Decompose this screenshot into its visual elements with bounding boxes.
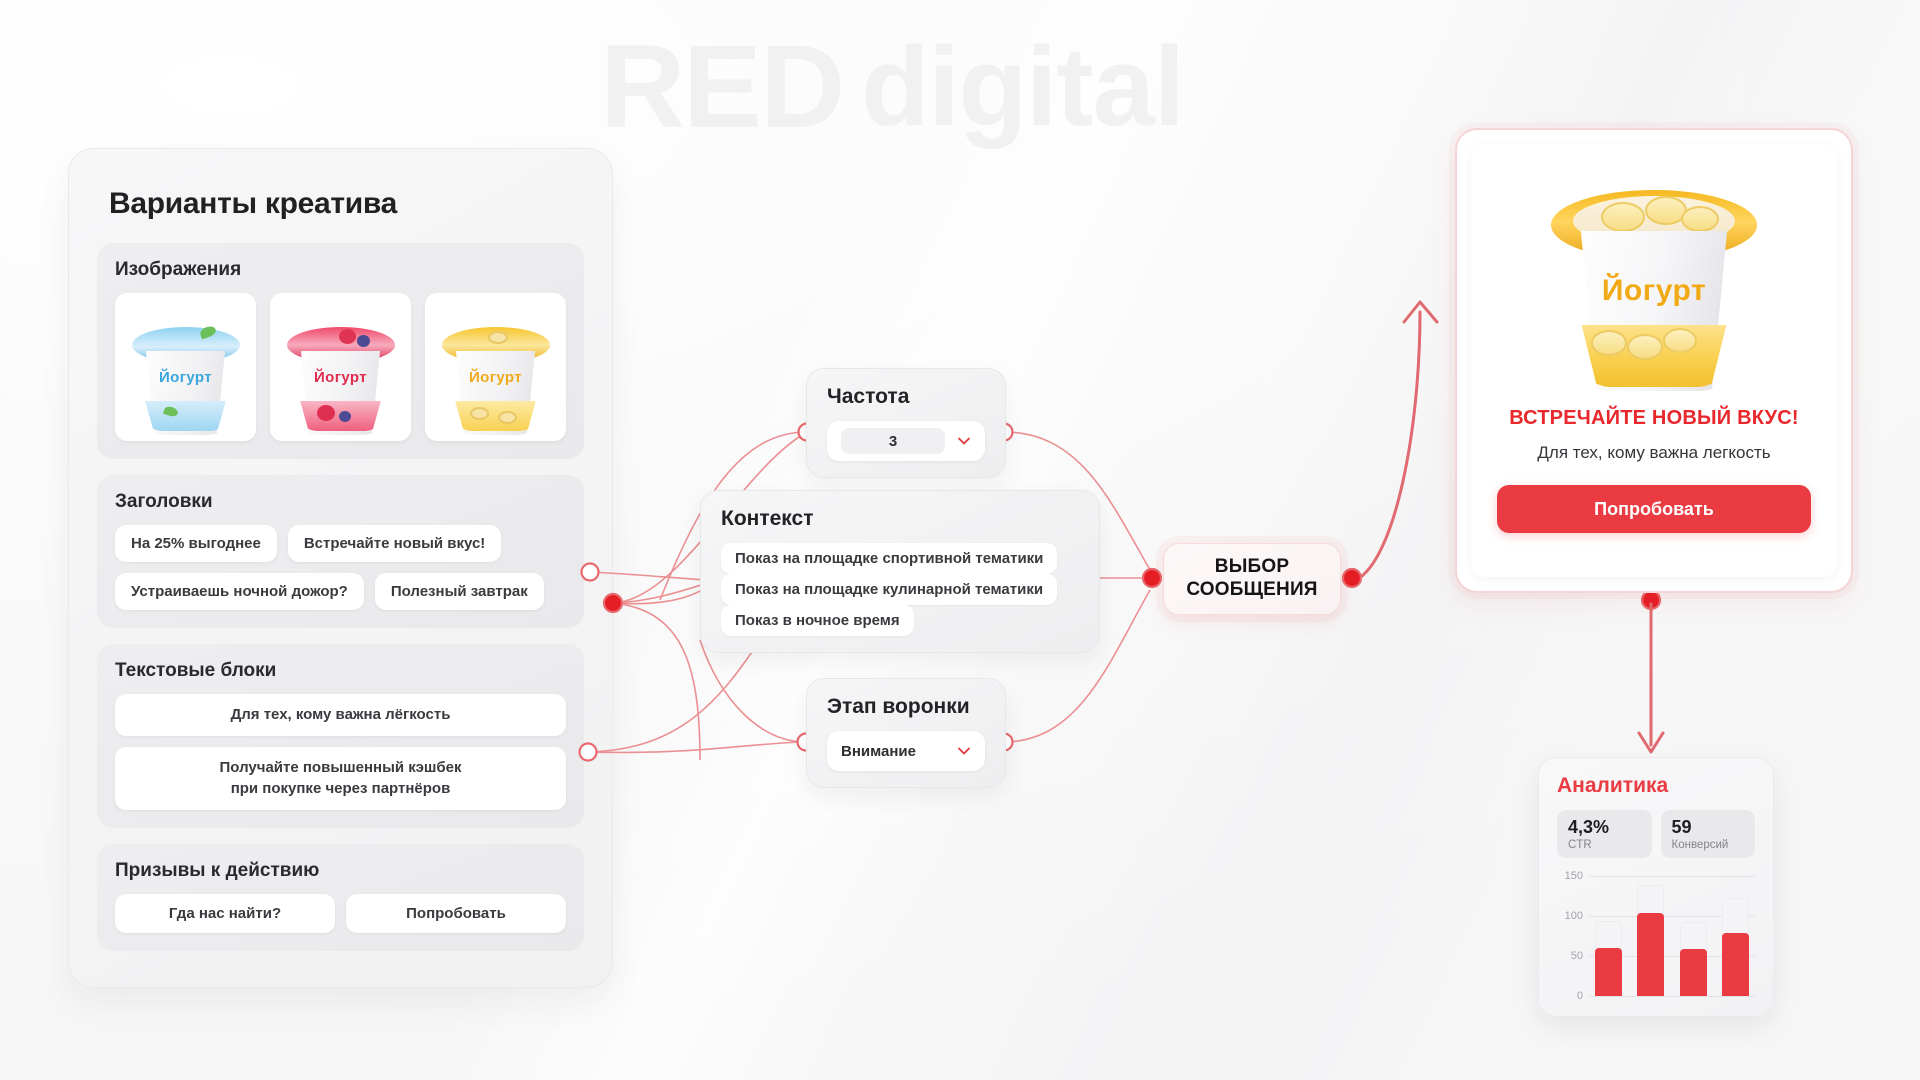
canvas: RED digital Варианты креатива Изображени… bbox=[0, 0, 1920, 1080]
port-decision-in bbox=[1143, 569, 1161, 587]
group-images: Изображения Йогурт bbox=[97, 243, 584, 459]
kpi-ctr-label: CTR bbox=[1568, 839, 1641, 851]
cup-label: Йогурт bbox=[436, 369, 556, 386]
yogurt-cup-icon: Йогурт bbox=[436, 311, 556, 435]
page-title: Варианты креатива bbox=[109, 187, 580, 221]
analytics-card: Аналитика 4,3% CTR 59 Конверсий 05010015… bbox=[1538, 757, 1774, 1017]
chart-y-tick: 100 bbox=[1565, 910, 1583, 922]
group-images-title: Изображения bbox=[115, 259, 566, 281]
preview-cta-button[interactable]: Попробовать bbox=[1497, 485, 1811, 533]
creative-variants-panel: Варианты креатива Изображения Йогурт bbox=[68, 148, 613, 988]
chart-bars bbox=[1595, 876, 1749, 996]
headline-chip[interactable]: Встречайте новый вкус! bbox=[288, 525, 501, 562]
yogurt-cup-icon: Йогурт bbox=[281, 311, 401, 435]
group-textblocks: Текстовые блоки Для тех, кому важна лёгк… bbox=[97, 644, 584, 828]
chevron-down-icon[interactable] bbox=[957, 434, 971, 448]
textblock-item[interactable]: Получайте повышенный кэшбек при покупке … bbox=[115, 747, 566, 810]
decision-line-1: ВЫБОР bbox=[1186, 556, 1317, 579]
chart-y-tick: 50 bbox=[1571, 950, 1583, 962]
port-preview-out bbox=[1642, 591, 1660, 609]
group-headlines-title: Заголовки bbox=[115, 491, 566, 513]
chart-bar-fact bbox=[1722, 933, 1749, 995]
kpi-ctr: 4,3% CTR bbox=[1557, 810, 1652, 858]
analytics-title: Аналитика bbox=[1557, 774, 1755, 798]
node-message-decision[interactable]: ВЫБОР СООБЩЕНИЯ bbox=[1163, 543, 1341, 615]
node-frequency-title: Частота bbox=[827, 385, 985, 409]
kpi-ctr-value: 4,3% bbox=[1568, 817, 1641, 838]
textblock-item[interactable]: Для тех, кому важна лёгкость bbox=[115, 694, 566, 736]
context-item[interactable]: Показ в ночное время bbox=[721, 605, 914, 636]
headline-chip[interactable]: Полезный завтрак bbox=[375, 573, 544, 610]
headline-chip[interactable]: Устраиваешь ночной дожор? bbox=[115, 573, 364, 610]
port-decision-out bbox=[1343, 569, 1361, 587]
preview-subline: Для тех, кому важна легкость bbox=[1537, 443, 1770, 463]
frequency-select[interactable]: 3 bbox=[827, 421, 985, 461]
group-textblocks-title: Текстовые блоки bbox=[115, 660, 566, 682]
context-item[interactable]: Показ на площадке кулинарной тематики bbox=[721, 574, 1057, 605]
kpi-conversions-label: Конверсий bbox=[1672, 839, 1745, 851]
watermark-digital-text: digital bbox=[861, 31, 1184, 143]
cta-chip[interactable]: Гда нас найти? bbox=[115, 894, 335, 933]
decision-line-2: СООБЩЕНИЯ bbox=[1186, 579, 1317, 602]
node-frequency[interactable]: Частота 3 bbox=[806, 368, 1006, 478]
chart-bar bbox=[1595, 921, 1622, 996]
cup-label: Йогурт bbox=[281, 369, 401, 386]
chart-bar-fact bbox=[1595, 948, 1622, 996]
cup-label: Йогурт bbox=[126, 369, 246, 386]
chart-bar bbox=[1637, 885, 1664, 996]
chart-bar-fact bbox=[1680, 949, 1707, 995]
chart-gridline bbox=[1589, 996, 1755, 997]
kpi-conversions: 59 Конверсий bbox=[1661, 810, 1756, 858]
chart-y-tick: 150 bbox=[1565, 870, 1583, 882]
context-item[interactable]: Показ на площадке спортивной тематики bbox=[721, 543, 1057, 574]
chart-bar-fact bbox=[1637, 913, 1664, 995]
image-thumb-berry[interactable]: Йогурт bbox=[270, 293, 411, 441]
group-ctas-title: Призывы к действию bbox=[115, 860, 566, 882]
image-thumb-banana[interactable]: Йогурт bbox=[425, 293, 566, 441]
analytics-bar-chart: 050100150 bbox=[1557, 876, 1755, 996]
chart-y-axis: 050100150 bbox=[1557, 876, 1583, 996]
kpi-conversions-value: 59 bbox=[1672, 817, 1745, 838]
funnel-select[interactable]: Внимание bbox=[827, 731, 985, 771]
node-context[interactable]: Контекст Показ на площадке спортивной те… bbox=[700, 490, 1100, 653]
preview-cup-label: Йогурт bbox=[1539, 274, 1769, 308]
group-ctas: Призывы к действию Гда нас найти? Попроб… bbox=[97, 844, 584, 951]
brand-watermark: RED digital bbox=[600, 28, 1184, 146]
chart-bar bbox=[1680, 922, 1707, 996]
headline-chip[interactable]: На 25% выгоднее bbox=[115, 525, 277, 562]
chevron-down-icon[interactable] bbox=[957, 744, 971, 758]
node-funnel-stage[interactable]: Этап воронки Внимание bbox=[806, 678, 1006, 788]
image-thumb-plain[interactable]: Йогурт bbox=[115, 293, 256, 441]
yogurt-cup-icon: Йогурт bbox=[126, 311, 246, 435]
chart-bar bbox=[1722, 898, 1749, 996]
group-headlines: Заголовки На 25% выгоднее Встречайте нов… bbox=[97, 475, 584, 628]
watermark-red-text: RED bbox=[600, 28, 843, 146]
creative-preview-card: Йогурт ВСТРЕЧАЙТЕ НОВЫЙ ВКУС! Для тех, к… bbox=[1455, 128, 1853, 593]
node-funnel-title: Этап воронки bbox=[827, 695, 985, 719]
frequency-value: 3 bbox=[841, 428, 945, 454]
preview-headline: ВСТРЕЧАЙТЕ НОВЫЙ ВКУС! bbox=[1509, 407, 1799, 430]
funnel-value: Внимание bbox=[841, 743, 945, 760]
yogurt-banana-image: Йогурт bbox=[1539, 162, 1769, 397]
node-context-title: Контекст bbox=[721, 507, 1079, 531]
chart-y-tick: 0 bbox=[1577, 990, 1583, 1002]
cta-chip[interactable]: Попробовать bbox=[346, 894, 566, 933]
